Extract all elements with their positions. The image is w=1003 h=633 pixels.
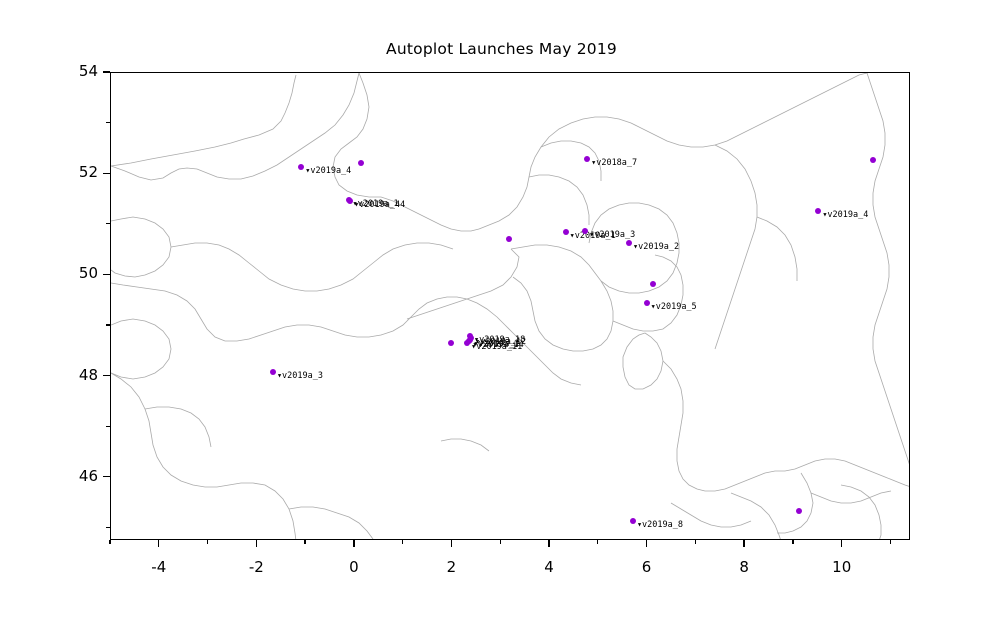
page-title: Autoplot Launches May 2019 [0,40,1003,58]
x-axis-tick-minor [792,540,793,544]
launch-marker[interactable] [298,164,304,170]
y-axis-tick-label: 46 [40,467,98,485]
figure-canvas: Autoplot Launches May 2019 4648505254-4-… [0,0,1003,633]
x-axis-tick-label: 8 [714,558,774,576]
launch-marker[interactable] [630,518,636,524]
launch-marker[interactable] [796,508,802,514]
launch-marker-label: ▾v2019a_3 [589,231,635,240]
x-axis-tick-label: 4 [519,558,579,576]
x-axis-tick-minor [597,540,598,544]
launch-marker[interactable] [563,229,569,235]
y-axis-tick-major [103,71,110,72]
coastline-map-graphic [111,73,910,540]
launch-marker-label: ▾v2019a_8 [637,521,683,530]
y-axis-tick-label: 50 [40,264,98,282]
launch-marker[interactable] [870,157,876,163]
plot-area[interactable]: ▾v2019a_4▾v2019a_1▾v2019a_44▾v2018a_7▾v2… [110,72,910,540]
launch-marker-label: ▾v2019a_44 [354,201,405,210]
x-axis-tick-major [548,540,549,547]
x-axis-tick-minor [695,540,696,544]
y-axis-tick-major [103,476,110,477]
launch-marker[interactable] [506,236,512,242]
launch-marker[interactable] [584,156,590,162]
x-axis-tick-label: 10 [812,558,872,576]
x-axis-tick-major [451,540,452,547]
y-axis-tick-label: 48 [40,366,98,384]
y-axis-tick-major [103,375,110,376]
launch-marker[interactable] [270,369,276,375]
y-axis-tick-label: 52 [40,163,98,181]
y-axis-tick-major [103,274,110,275]
launch-marker[interactable] [358,160,364,166]
x-axis-tick-minor [500,540,501,544]
launch-marker-label: ▾v2019a_4 [822,211,868,220]
launch-marker[interactable] [582,228,588,234]
launch-marker-label: ▾v2019a_4 [305,167,351,176]
x-axis-tick-major [743,540,744,547]
x-axis-tick-minor [890,540,891,544]
launch-marker[interactable] [347,198,353,204]
x-axis-tick-major [353,540,354,547]
launch-marker-label: ▾v2019a_2 [633,243,679,252]
launch-marker[interactable] [644,300,650,306]
x-axis-tick-major [256,540,257,547]
launch-marker-label: ▾v2019a_5 [651,303,697,312]
x-axis-tick-major [646,540,647,547]
x-axis-tick-label: 0 [324,558,384,576]
x-axis-tick-label: 6 [617,558,677,576]
x-axis-tick-label: -2 [226,558,286,576]
x-axis-tick-major [158,540,159,547]
x-axis-tick-minor [207,540,208,544]
launch-marker-label: ▾v2019a_3 [277,372,323,381]
x-axis-tick-minor [402,540,403,544]
y-axis-tick-major [103,173,110,174]
x-axis-tick-major [841,540,842,547]
x-axis-tick-label: -4 [129,558,189,576]
x-axis-tick-minor [109,540,110,544]
x-axis-tick-minor [304,540,305,544]
launch-marker-label: ▾v2018a_7 [591,159,637,168]
x-axis-tick-label: 2 [421,558,481,576]
launch-marker[interactable] [626,240,632,246]
y-axis-tick-label: 54 [40,62,98,80]
launch-marker-label: ▾v2019a_11 [471,343,522,352]
